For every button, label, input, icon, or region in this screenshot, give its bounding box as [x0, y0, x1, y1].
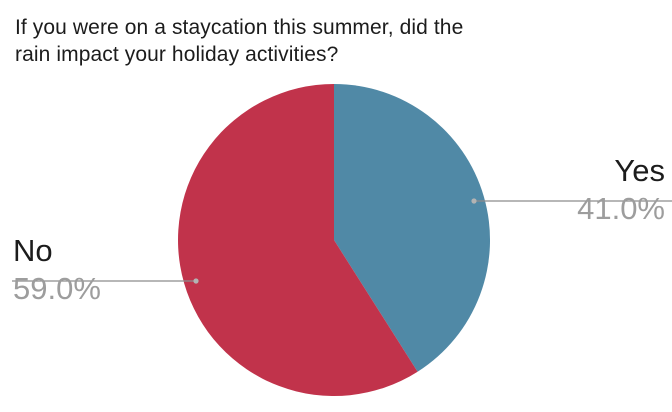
pie-label-yes-value: 41.0%	[577, 190, 665, 228]
pie-label-yes: Yes 41.0%	[577, 152, 665, 228]
leader-dot-no	[193, 278, 198, 283]
pie-graphic	[0, 0, 672, 412]
pie-label-no-value: 59.0%	[13, 270, 101, 308]
pie-chart-figure: If you were on a staycation this summer,…	[0, 0, 672, 412]
pie-label-yes-name: Yes	[577, 152, 665, 190]
pie-label-no: No 59.0%	[13, 232, 101, 308]
leader-dot-yes	[471, 198, 476, 203]
pie-label-no-name: No	[13, 232, 101, 270]
